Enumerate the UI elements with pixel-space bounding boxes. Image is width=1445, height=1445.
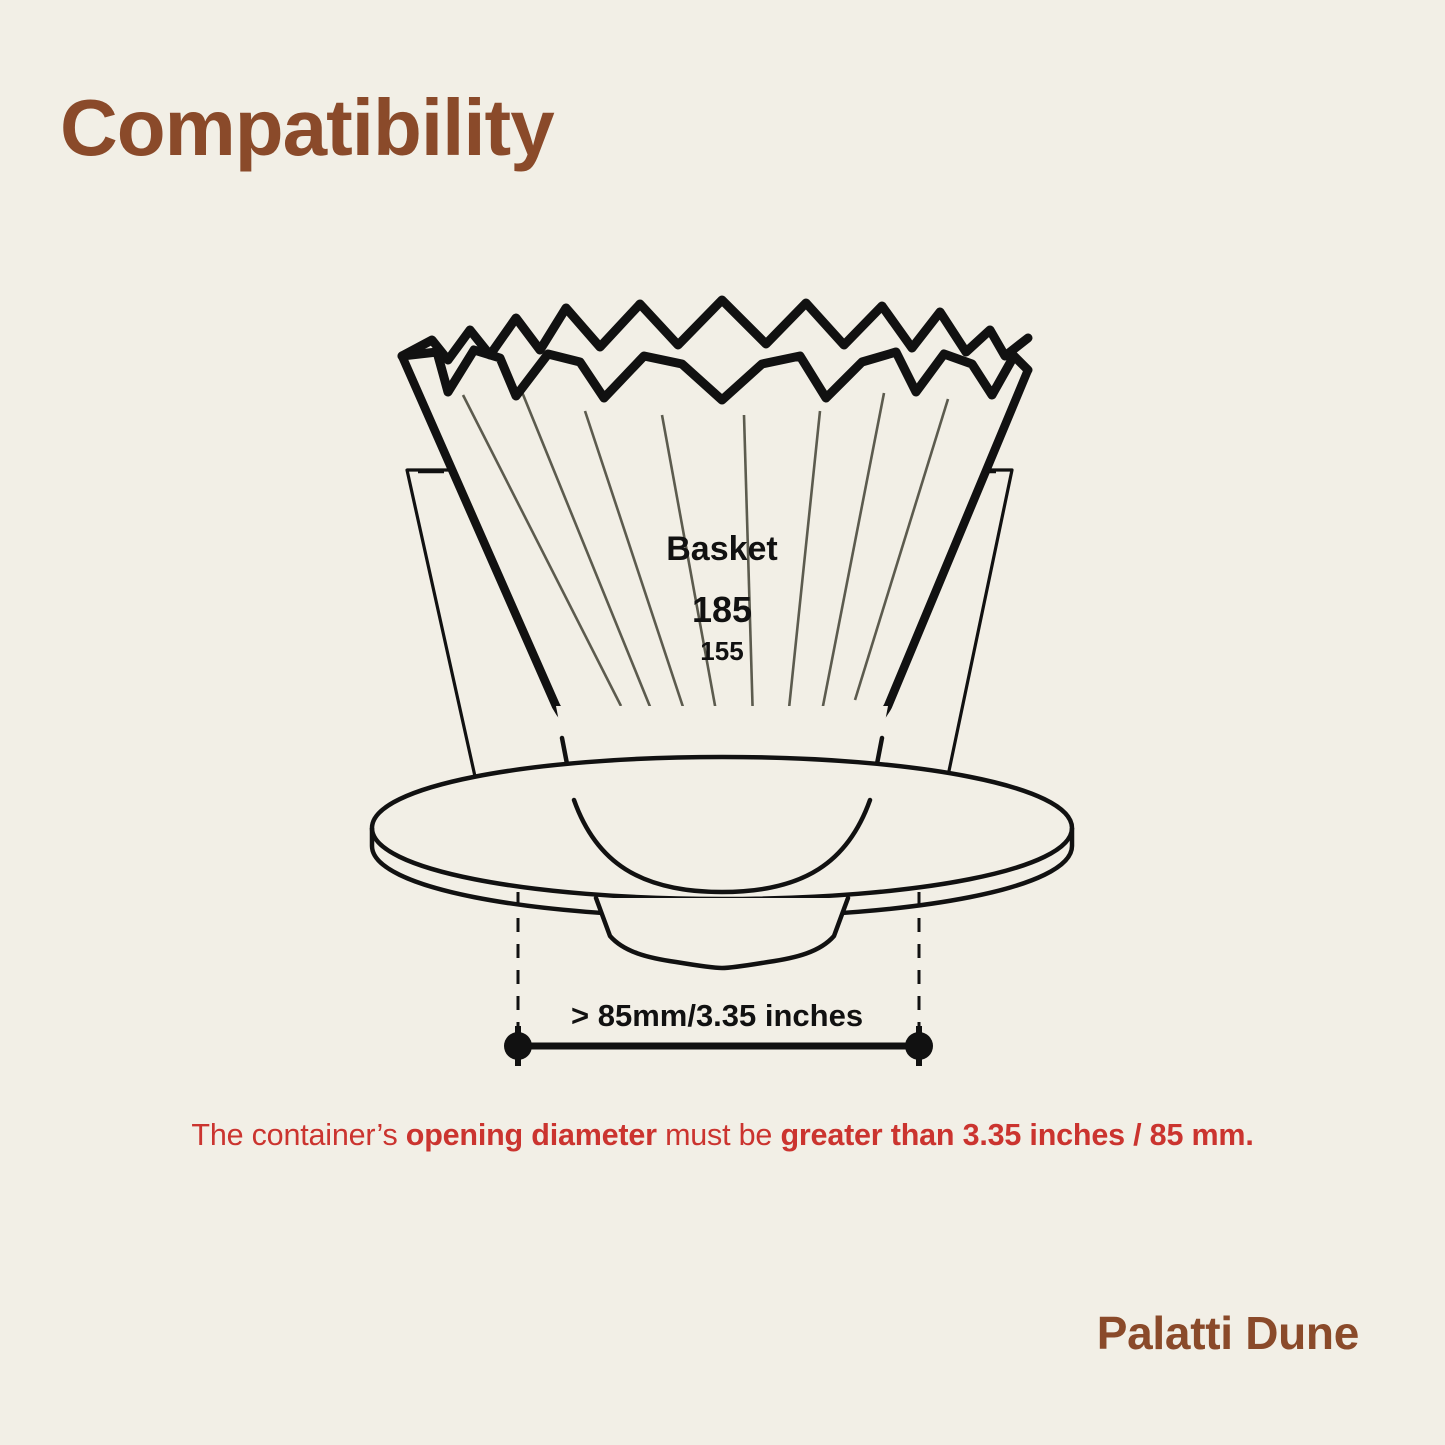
- coffee-dripper-diagram: Basket 185 155 > 85mm/3.35 inches: [0, 0, 1445, 1445]
- dimension-dot-left: [504, 1032, 532, 1060]
- basket-label: Basket: [666, 530, 778, 568]
- caption-text-part-2: must be: [657, 1118, 781, 1152]
- caption-bold-opening-diameter: opening diameter: [406, 1118, 657, 1152]
- rim-zigzag-back: [402, 300, 1028, 360]
- capacity-large-label: 185: [692, 589, 752, 630]
- dimension-dot-right: [905, 1032, 933, 1060]
- bottom-spout: [596, 898, 848, 968]
- capacity-small-label: 155: [700, 636, 743, 666]
- brand-name: Palatti Dune: [1097, 1306, 1359, 1360]
- saucer-plate: [372, 757, 1072, 917]
- compatibility-page: Compatibility: [0, 0, 1445, 1445]
- caption-bold-threshold: greater than 3.35 inches / 85 mm.: [780, 1118, 1253, 1152]
- spout-outline: [596, 898, 848, 968]
- dimension-label: > 85mm/3.35 inches: [571, 998, 863, 1033]
- dimension-measure: > 85mm/3.35 inches: [504, 998, 933, 1066]
- caption-text-part-1: The container’s: [191, 1118, 405, 1152]
- compatibility-caption: The container’s opening diameter must be…: [0, 1118, 1445, 1153]
